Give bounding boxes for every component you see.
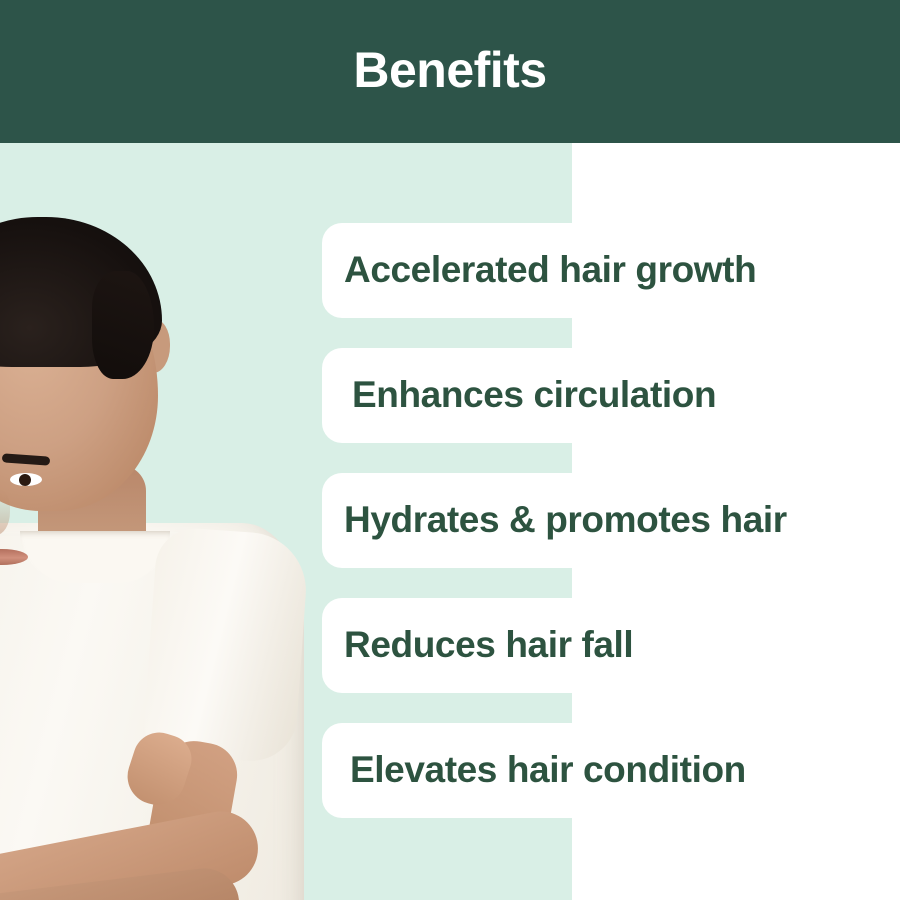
benefit-label: Elevates hair condition (350, 751, 746, 790)
person-illustration (0, 143, 330, 900)
benefits-graphic: Accelerated hair growth Enhances circula… (0, 0, 900, 900)
tshirt-sleeve (142, 526, 310, 764)
benefit-label: Hydrates & promotes hair (344, 501, 787, 540)
header-band: Benefits (0, 0, 900, 143)
benefit-card[interactable]: Accelerated hair growth (322, 223, 844, 318)
benefit-card[interactable]: Hydrates & promotes hair (322, 473, 869, 568)
model-photo (0, 143, 330, 900)
page-title: Benefits (353, 45, 546, 95)
hair-side (92, 271, 154, 379)
eyebrow-right (2, 453, 51, 465)
benefit-card[interactable]: Reduces hair fall (322, 598, 784, 693)
benefit-label: Enhances circulation (352, 376, 716, 415)
benefit-card[interactable]: Enhances circulation (322, 348, 812, 443)
eye-right (10, 473, 42, 486)
benefit-card[interactable]: Elevates hair condition (322, 723, 840, 818)
benefit-label: Reduces hair fall (344, 626, 633, 665)
benefit-label: Accelerated hair growth (344, 251, 756, 290)
